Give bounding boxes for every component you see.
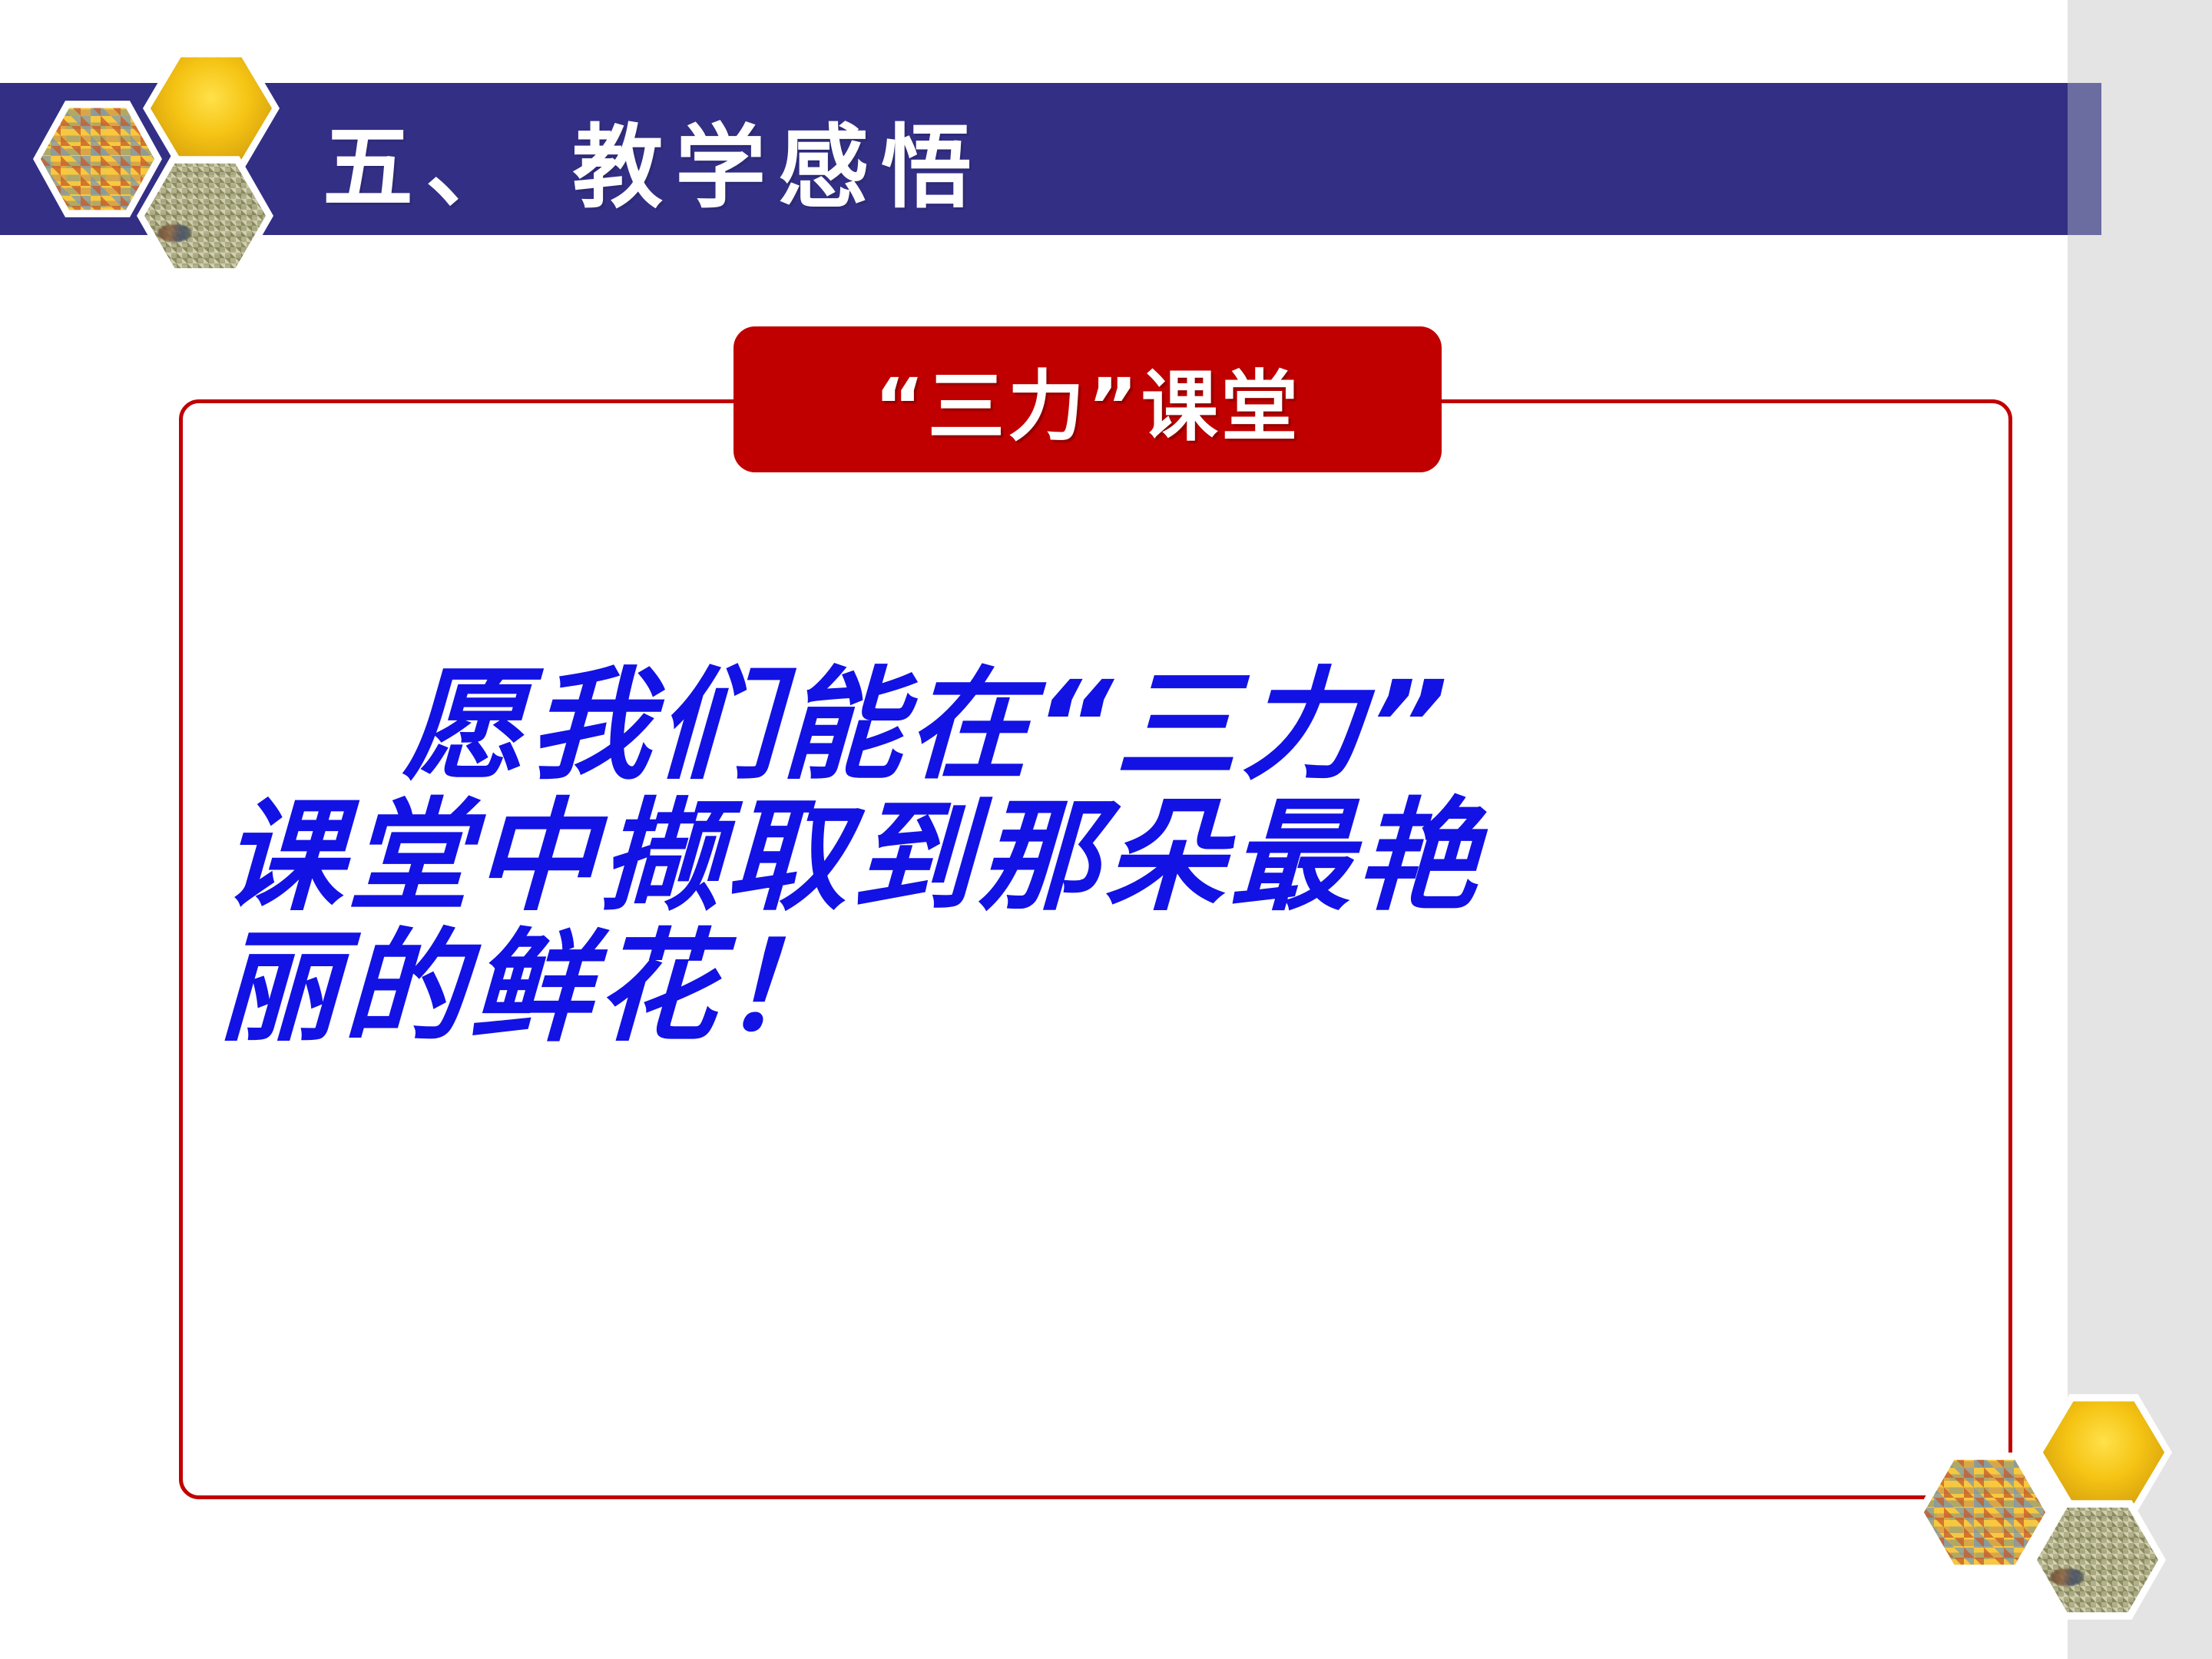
body-line-2: 课堂中撷取到那朵最艳 (220, 792, 1953, 923)
bee-detail-icon (157, 224, 191, 242)
body-line-1: 愿我们能在“三力” (225, 661, 1958, 792)
title-band (0, 83, 2068, 235)
status-badge: “三力”课堂 (733, 326, 1442, 472)
body-line-3: 丽的鲜花！ (216, 922, 1949, 1054)
status-badge-label: “三力”课堂 (874, 344, 1300, 455)
slide-canvas: 五、 教学感悟 “三力”课堂 愿我们能在“三力” 课堂中撷取到那朵最艳 丽的鲜花… (0, 0, 2212, 1659)
title-band-tail (2068, 83, 2101, 235)
page-title: 五、 教学感悟 (323, 83, 984, 235)
bee-detail-icon-2 (2050, 1568, 2084, 1586)
body-text-block: 愿我们能在“三力” 课堂中撷取到那朵最艳 丽的鲜花！ (216, 661, 1958, 1054)
